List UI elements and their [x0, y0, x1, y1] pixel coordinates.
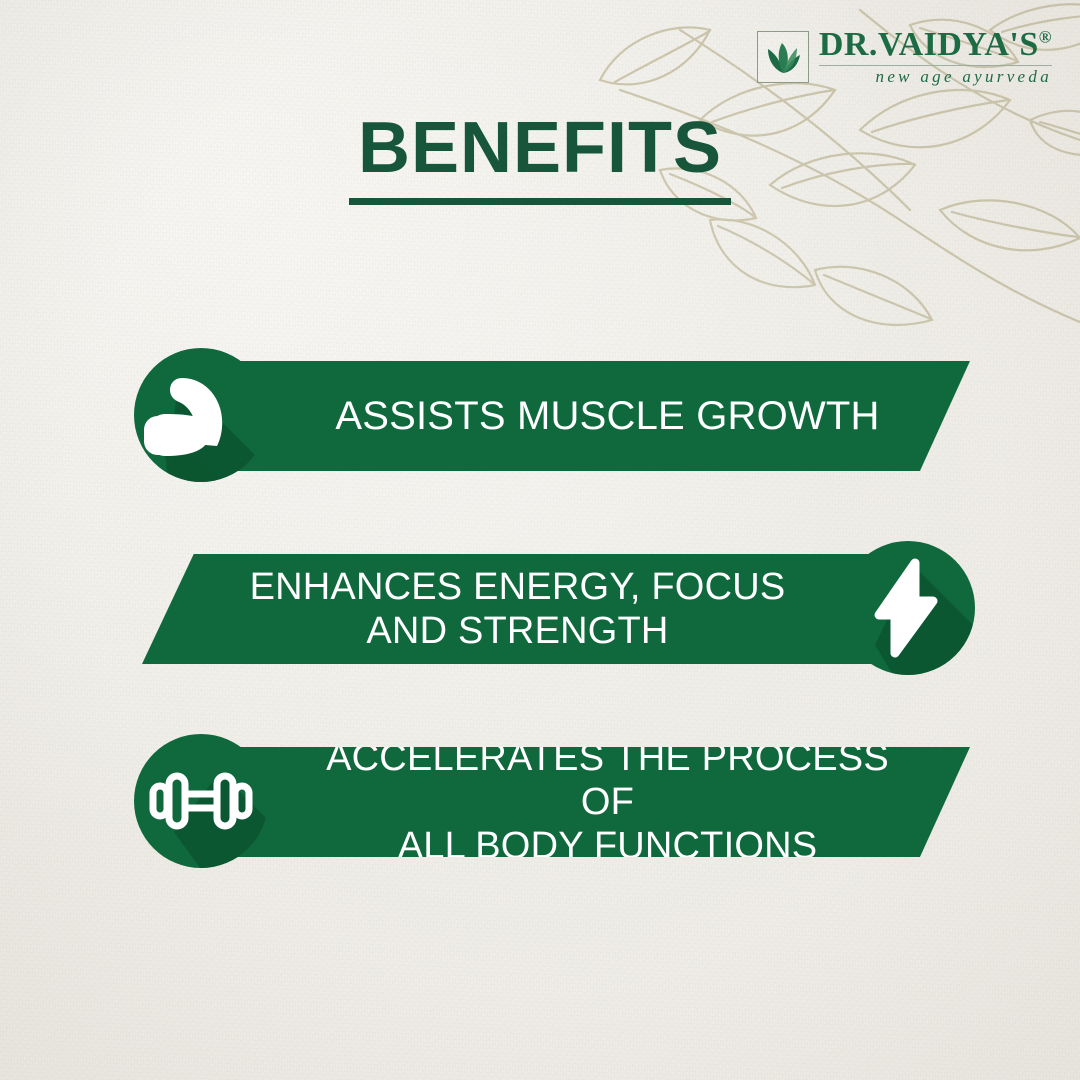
dumbbell-icon [134, 734, 268, 868]
benefit-item-enhances-energy-focus-strength: ENHANCES ENERGY, FOCUS AND STRENGTH [0, 533, 1080, 683]
benefit-item-accelerates-body-functions: ACCELERATES THE PROCESS OF ALL BODY FUNC… [0, 726, 1080, 876]
leaf-cluster-icon [757, 31, 809, 83]
page-title-container: BENEFITS [0, 112, 1080, 205]
benefit-label: ENHANCES ENERGY, FOCUS AND STRENGTH [212, 565, 823, 653]
brand-tagline: new age ayurveda [876, 68, 1052, 85]
benefits-poster: DR.VAIDYA'S® new age ayurveda BENEFITS A… [0, 0, 1080, 1080]
logo-divider [819, 65, 1052, 66]
title-underline [349, 198, 731, 205]
benefit-label: ACCELERATES THE PROCESS OF ALL BODY FUNC… [315, 736, 900, 868]
benefit-label: ASSISTS MUSCLE GROWTH [315, 393, 900, 439]
benefit-ribbon: ASSISTS MUSCLE GROWTH [200, 361, 970, 471]
benefit-icon-badge [134, 348, 268, 482]
benefit-item-assists-muscle-growth: ASSISTS MUSCLE GROWTH [0, 340, 1080, 490]
lightning-bolt-icon [841, 541, 975, 675]
benefit-ribbon: ACCELERATES THE PROCESS OF ALL BODY FUNC… [200, 747, 970, 857]
page-title: BENEFITS [358, 112, 722, 184]
benefit-ribbon: ENHANCES ENERGY, FOCUS AND STRENGTH [142, 554, 938, 664]
flexed-bicep-icon [134, 348, 268, 482]
brand-logo: DR.VAIDYA'S® new age ayurveda [757, 28, 1052, 85]
registered-mark: ® [1039, 28, 1052, 47]
brand-wordmark: DR.VAIDYA'S® new age ayurveda [819, 28, 1052, 85]
brand-name: DR.VAIDYA'S® [819, 28, 1052, 62]
benefit-icon-badge [841, 541, 975, 675]
benefit-icon-badge [134, 734, 268, 868]
benefits-list: ASSISTS MUSCLE GROWTH [0, 340, 1080, 919]
